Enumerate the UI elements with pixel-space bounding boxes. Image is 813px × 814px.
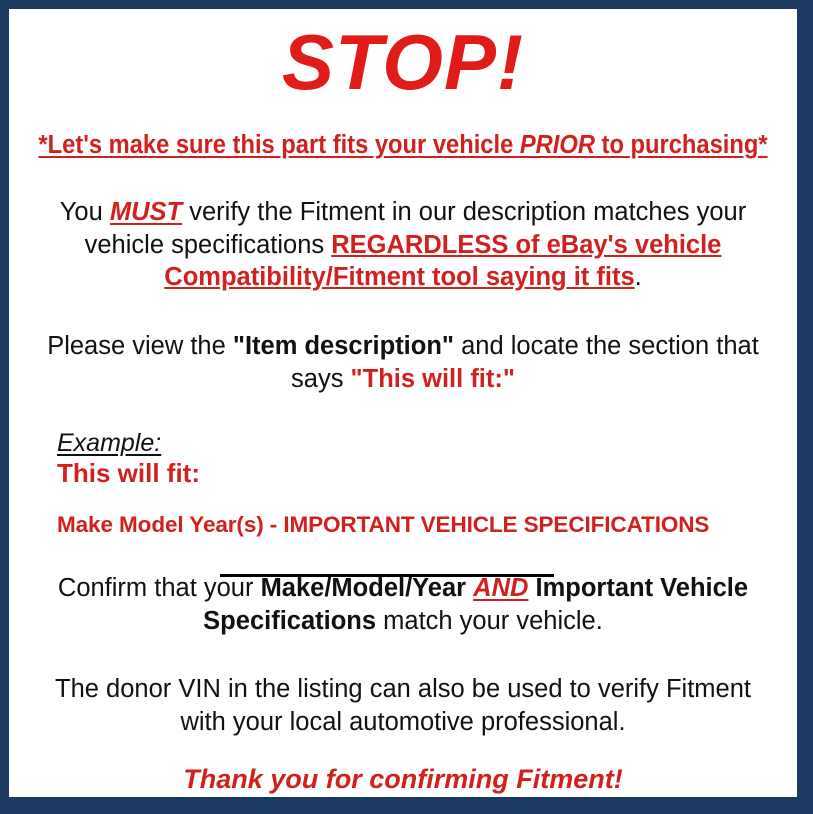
view-paragraph: Please view the "Item description" and l… — [9, 330, 797, 395]
vin-paragraph: The donor VIN in the listing can also be… — [9, 673, 797, 738]
verify-paragraph: You MUST verify the Fitment in our descr… — [9, 196, 797, 294]
tagline-emphasis-prior: PRIOR — [520, 131, 595, 159]
thank-you-line: Thank you for confirming Fitment! — [9, 765, 797, 795]
tagline-suffix: to purchasing* — [595, 131, 768, 159]
example-block: Example: This will fit: Make Model Year(… — [9, 429, 797, 538]
fitment-notice-banner: STOP! *Let's make sure this part fits yo… — [0, 0, 813, 814]
stop-headline: STOP! — [9, 23, 797, 101]
example-fit-heading: This will fit: — [57, 459, 797, 488]
tagline-prefix: *Let's make sure this part fits your veh… — [38, 131, 519, 159]
make-model-year-emphasis: Make/Model/Year — [261, 574, 467, 602]
must-emphasis: MUST — [110, 198, 182, 226]
view-text-part1: Please view the — [47, 332, 233, 360]
tagline: *Let's make sure this part fits your veh… — [37, 131, 770, 159]
example-label: Example: — [57, 429, 797, 457]
and-emphasis: AND — [473, 574, 528, 602]
notice-content: STOP! *Let's make sure this part fits yo… — [9, 23, 797, 811]
divider-wrapper — [9, 564, 797, 572]
verify-text-part3: . — [635, 263, 642, 291]
example-spec-line: Make Model Year(s) - IMPORTANT VEHICLE S… — [57, 513, 797, 538]
confirm-text-part1: Confirm that your — [58, 574, 261, 602]
confirm-text-part2: match your vehicle. — [376, 607, 603, 635]
verify-text-part1: You — [60, 198, 110, 226]
item-description-emphasis: "Item description" — [233, 332, 454, 360]
confirm-paragraph: Confirm that your Make/Model/Year AND Im… — [9, 572, 797, 637]
this-will-fit-emphasis: "This will fit:" — [351, 365, 515, 393]
